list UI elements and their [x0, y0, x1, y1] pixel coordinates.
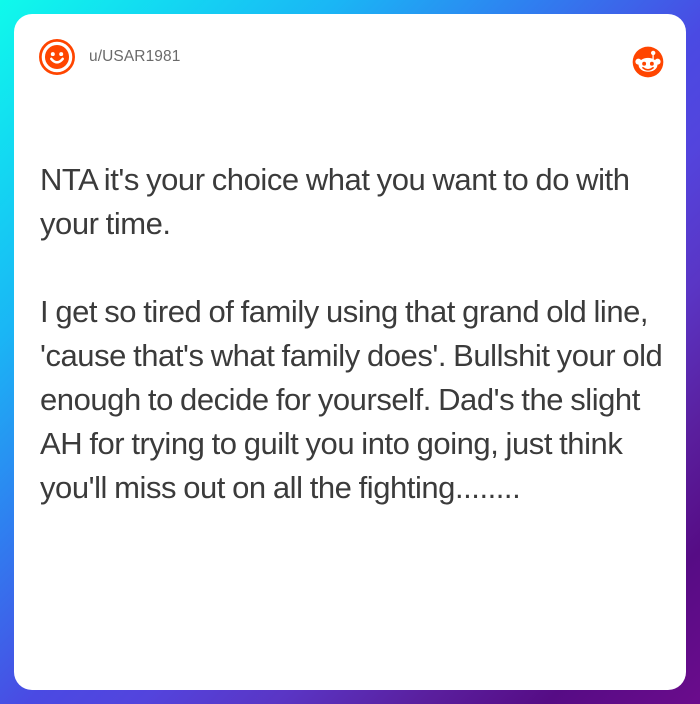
comment-paragraph-2: I get so tired of family using that gran… — [40, 290, 672, 510]
smiley-face-avatar-icon[interactable] — [38, 38, 76, 76]
reddit-comment-card: u/USAR1981 — [14, 14, 686, 690]
comment-paragraph-1: NTA it's your choice what you want to do… — [40, 158, 672, 246]
reddit-snoo-icon[interactable] — [632, 46, 664, 78]
card-body: NTA it's your choice what you want to do… — [14, 100, 686, 510]
card-header: u/USAR1981 — [14, 14, 686, 100]
username-label: u/USAR1981 — [89, 48, 180, 66]
screenshot-root: u/USAR1981 — [0, 0, 700, 704]
